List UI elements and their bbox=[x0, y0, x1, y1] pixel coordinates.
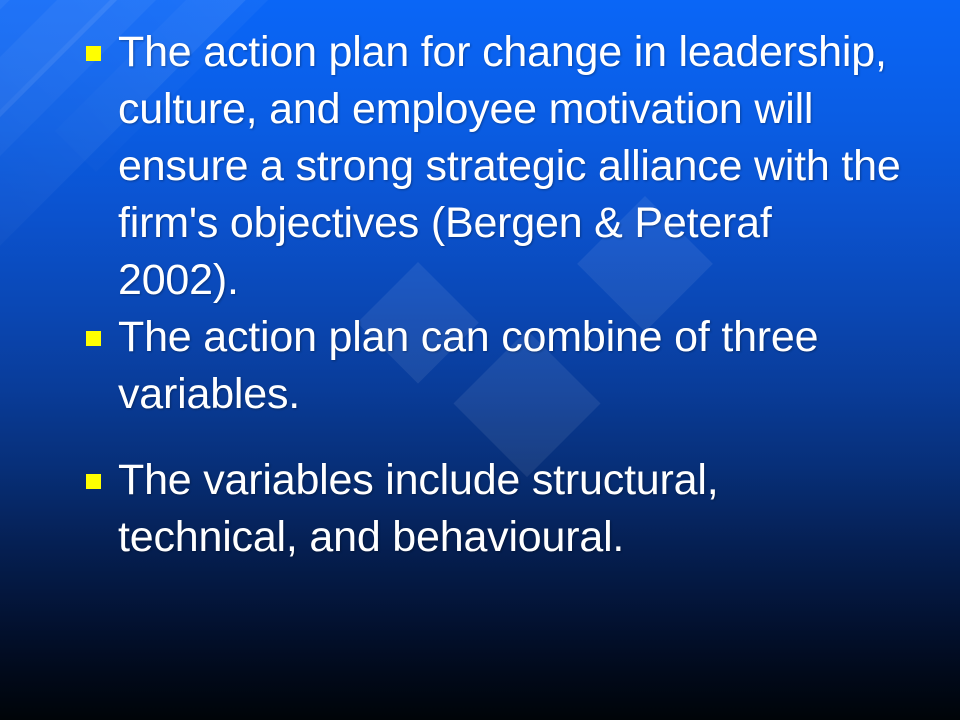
bullet-text: The variables include structural, techni… bbox=[118, 452, 904, 566]
bullet-list-item: The variables include structural, techni… bbox=[84, 452, 904, 566]
bullet-list-item: The action plan can combine of three var… bbox=[84, 309, 904, 423]
bullet-text: The action plan for change in leadership… bbox=[118, 24, 904, 309]
bullet-list-item: The action plan for change in leadership… bbox=[84, 24, 904, 309]
bullet-text: The action plan can combine of three var… bbox=[118, 309, 904, 423]
presentation-slide: The action plan for change in leadership… bbox=[0, 0, 960, 720]
square-bullet-icon bbox=[86, 474, 101, 489]
slide-body: The action plan for change in leadership… bbox=[0, 0, 960, 720]
square-bullet-icon bbox=[86, 331, 101, 346]
square-bullet-icon bbox=[86, 46, 101, 61]
